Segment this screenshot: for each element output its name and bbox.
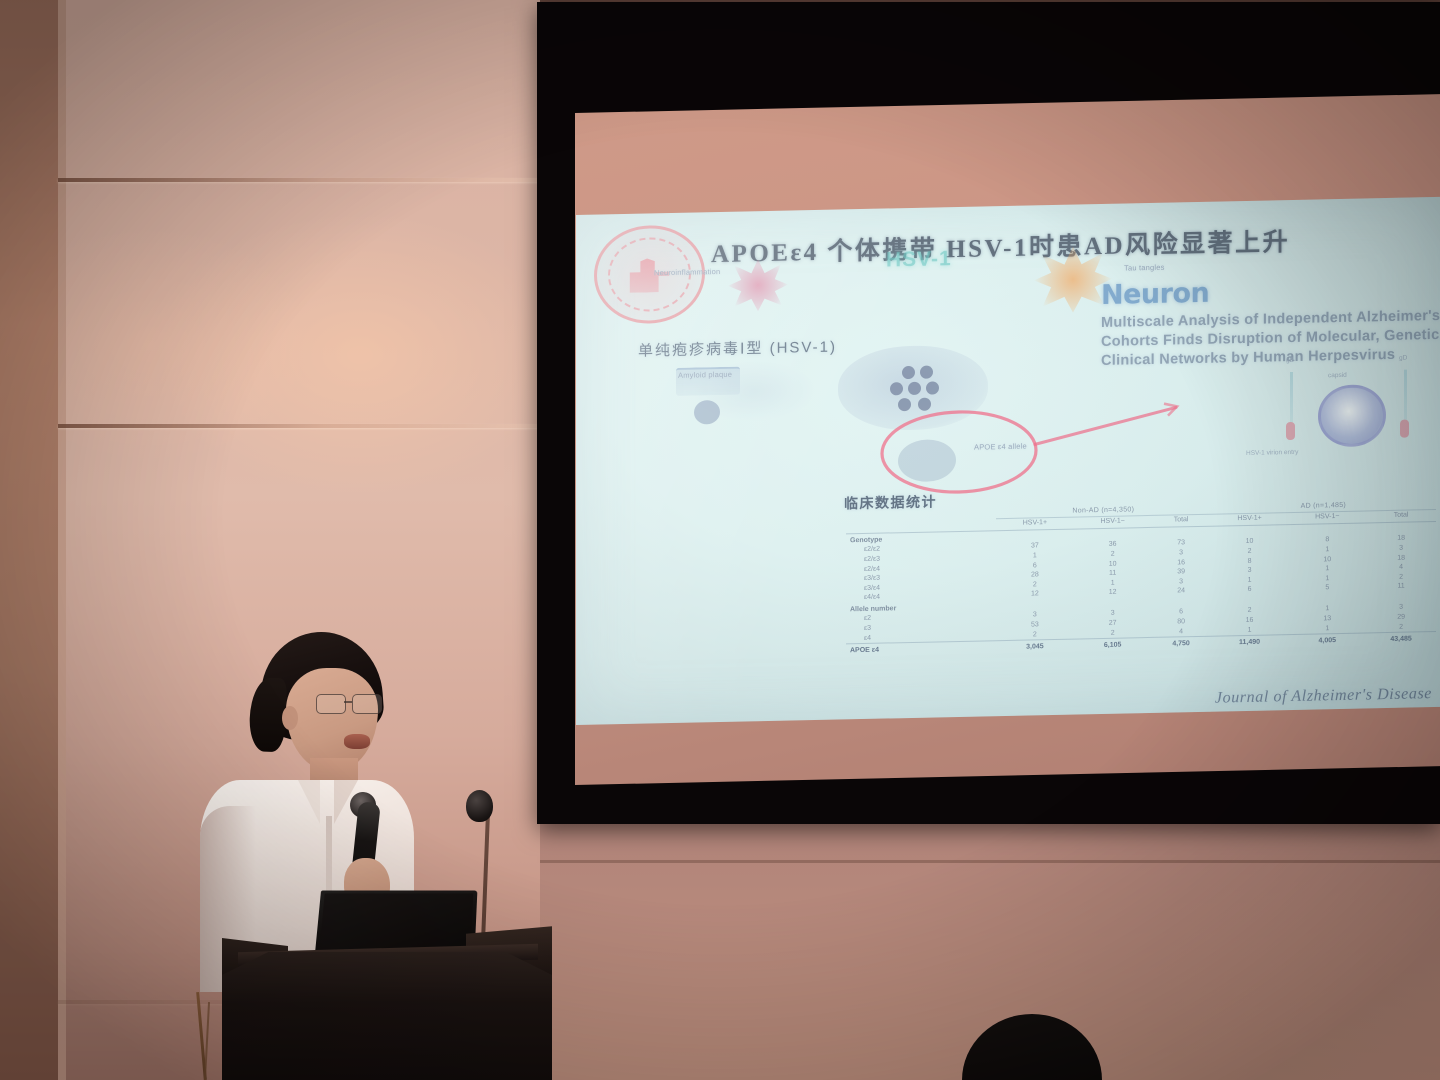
pathway-label-apoe: APOE ε4 allele	[974, 441, 1052, 453]
virus-label-gB: gB	[1286, 356, 1294, 365]
wall-trim-strip-inner	[58, 0, 66, 1080]
virus-label-gD: gD	[1399, 354, 1407, 363]
wall-panel-seam	[58, 178, 540, 182]
virus-figure: gB gD capsid HSV-1 virion entry	[1244, 347, 1440, 469]
pathway-cell-icon	[838, 344, 988, 431]
pathway-blob-icon	[694, 400, 720, 425]
table-total-cell: 6,105	[1074, 637, 1152, 650]
clinical-data-table: 临床数据统计 Non-AD (n=4,350) AD (n=1,485) HSV…	[846, 487, 1436, 655]
table-total-cell: 4,005	[1288, 633, 1366, 646]
virus-figure-note: HSV-1 virion entry	[1246, 446, 1366, 458]
wall-panel-seam	[58, 424, 540, 428]
table-total-cell: 11,490	[1211, 634, 1289, 647]
table-total-cell: 4,750	[1152, 636, 1211, 649]
projected-slide: APOEε4 个体携带 HSV-1时患AD风险显著上升 Neuron Multi…	[576, 197, 1440, 725]
virus-arm	[1404, 370, 1407, 420]
wall-trim-strip	[0, 0, 58, 1080]
pathway-teal-text: HSV-1	[886, 247, 952, 272]
glasses-icon	[316, 694, 384, 714]
wall-floor-line	[540, 860, 1440, 863]
pathway-label-tau: Tau tangles	[1124, 262, 1198, 274]
table-body: Genotypeε2/ε237367310818ε2/ε3123213ε2/ε4…	[846, 521, 1436, 655]
laptop-screen	[319, 893, 473, 951]
virus-receptor-icon	[1286, 422, 1295, 440]
mic-stand-head-icon	[466, 790, 493, 822]
neuron-logo: Neuron	[1101, 274, 1440, 309]
table-total-cell: 43,485	[1366, 631, 1436, 644]
slide-footer-journal: Journal of Alzheimer's Disease	[1215, 685, 1432, 708]
presentation-photo: APOEε4 个体携带 HSV-1时患AD风险显著上升 Neuron Multi…	[0, 0, 1440, 1080]
table-title: 临床数据统计	[844, 491, 937, 513]
lectern	[222, 952, 552, 1080]
pathway-label-neuroinflammation: Neuroinflammation	[654, 266, 746, 278]
slide-title: APOEε4 个体携带 HSV-1时患AD风险显著上升	[711, 220, 1411, 271]
annotated-node-icon	[898, 439, 956, 482]
speaker-face	[286, 668, 378, 772]
speaker-ear	[282, 706, 298, 730]
presentation-laptop[interactable]	[315, 891, 477, 955]
virus-label-capsid: capsid	[1328, 371, 1347, 380]
pathway-cell-dots	[886, 365, 958, 413]
speaker-mouth	[344, 734, 370, 749]
table-total-cell: 3,045	[996, 639, 1074, 652]
table-total-label: APOE ε4	[846, 641, 996, 656]
virus-receptor-icon	[1400, 420, 1409, 438]
virus-arm	[1290, 372, 1293, 422]
virus-capsid-icon	[1318, 384, 1386, 447]
pathway-label-amyloid: Amyloid plaque	[678, 370, 738, 381]
shirt-collar-left	[298, 780, 320, 824]
